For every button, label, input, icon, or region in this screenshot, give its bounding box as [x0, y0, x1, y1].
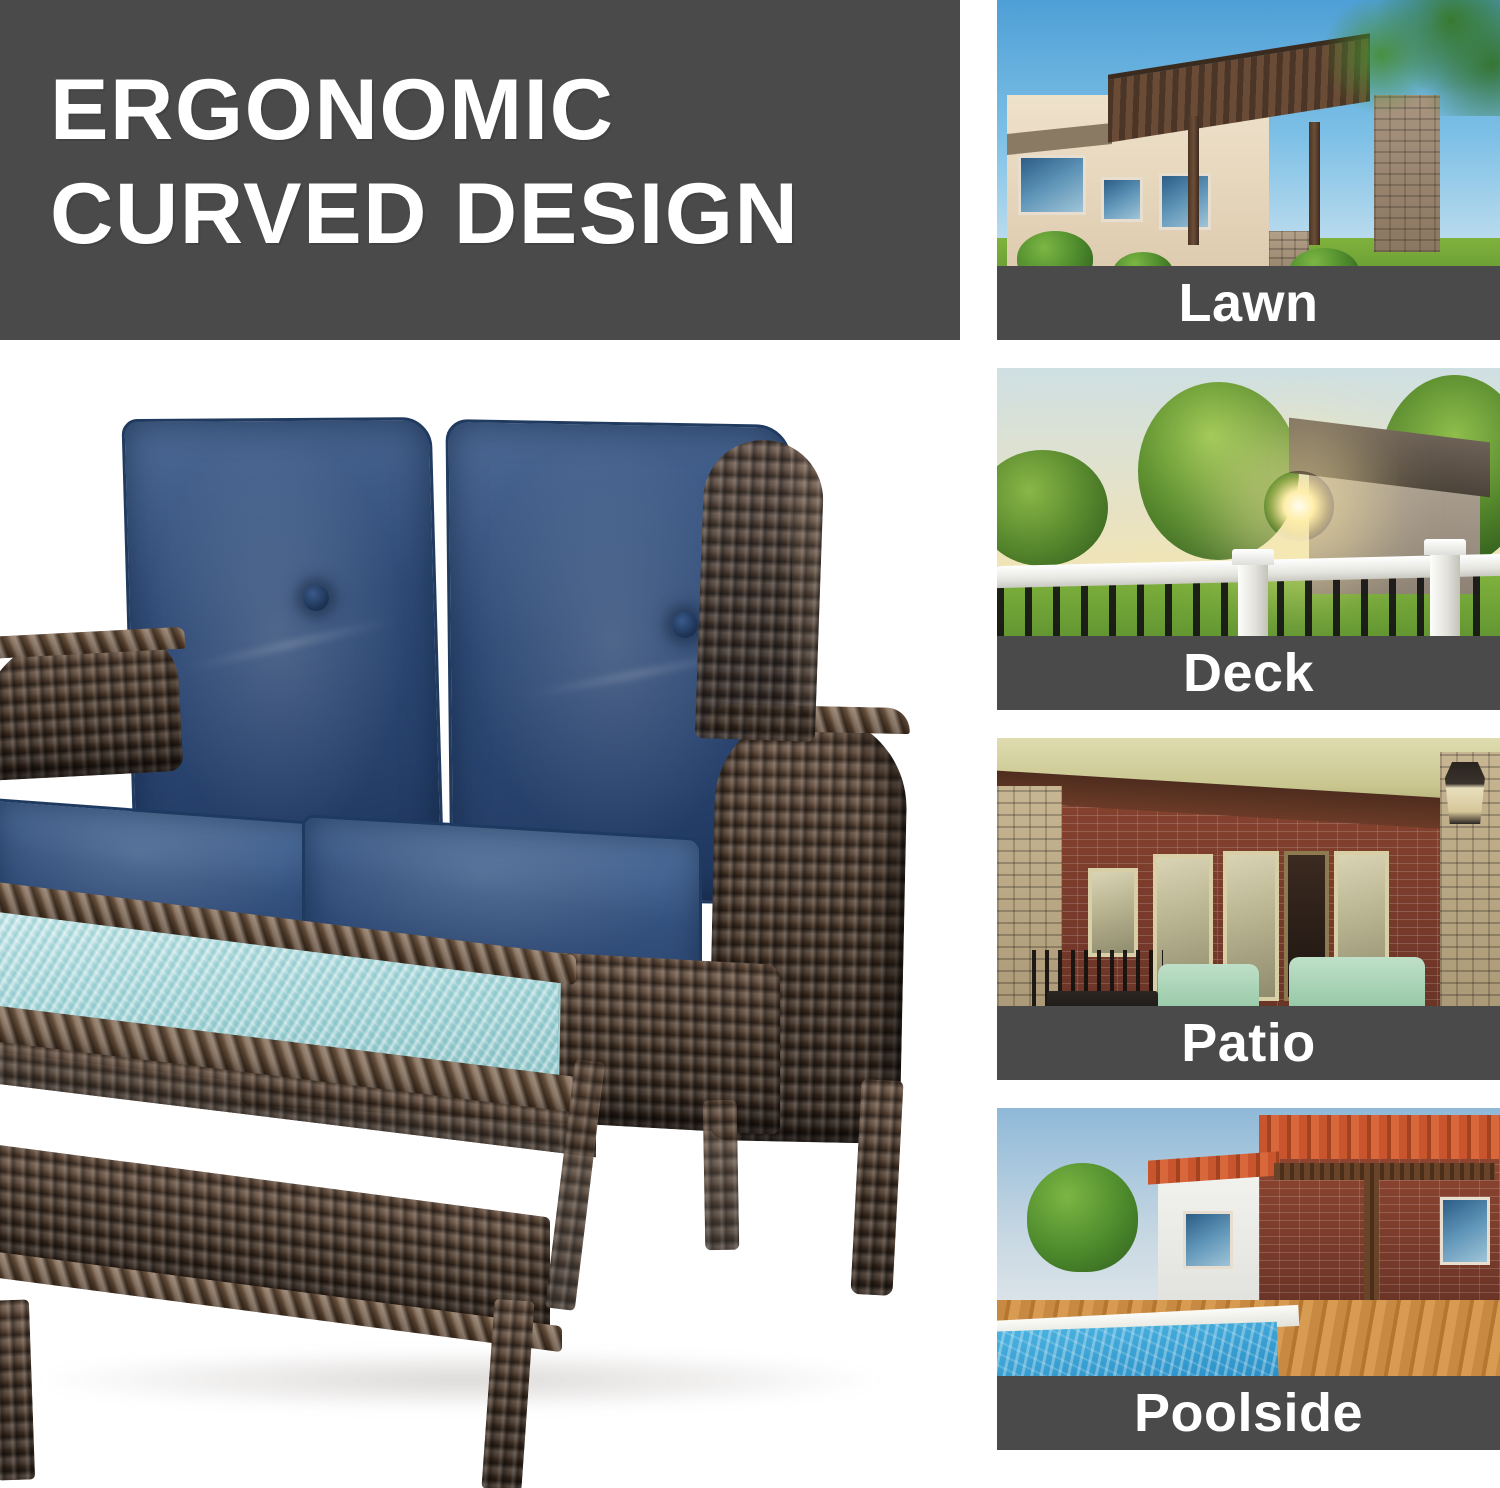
house-window-right: [1440, 1197, 1490, 1265]
scene-card-deck[interactable]: Deck: [997, 368, 1500, 710]
scene-card-patio[interactable]: Patio: [997, 738, 1500, 1080]
loveseat-leg-rear-right: [703, 1100, 740, 1251]
house-door-glass: [1159, 173, 1211, 230]
deck-rail-post-cap-center: [1232, 549, 1274, 565]
tuft-button-left: [303, 585, 329, 611]
wall-lantern-icon: [1445, 762, 1485, 824]
scene-card-lawn[interactable]: Lawn: [997, 0, 1500, 340]
patio-window-left: [1088, 868, 1138, 957]
scene-label-deck: Deck: [997, 636, 1500, 710]
headline-line-2: CURVED DESIGN: [50, 162, 978, 266]
scene-label-poolside: Poolside: [997, 1376, 1500, 1450]
scene-label-text: Lawn: [1178, 276, 1318, 330]
scene-label-patio: Patio: [997, 1006, 1500, 1080]
ground-shadow: [40, 1350, 880, 1410]
outbuilding-window: [1183, 1211, 1233, 1269]
tree-center: [1138, 382, 1299, 560]
deck-rail-post-cap-right: [1424, 539, 1466, 555]
headline-line-1: ERGONOMIC: [50, 58, 978, 162]
tree-canopy-overhang: [1289, 0, 1500, 116]
house-window-small: [1101, 177, 1143, 223]
terracotta-roof: [1259, 1115, 1500, 1159]
headline-banner: ERGONOMIC CURVED DESIGN: [0, 0, 960, 340]
scene-label-lawn: Lawn: [997, 266, 1500, 340]
porch-beams: [1274, 1163, 1495, 1180]
house-roof: [1007, 123, 1112, 155]
sun-flare: [1264, 471, 1334, 541]
product-photo: [0, 340, 960, 1488]
scene-label-text: Patio: [1181, 1016, 1316, 1070]
scene-label-text: Poolside: [1134, 1386, 1363, 1440]
loveseat-back-frame: [695, 438, 825, 742]
stone-chimney: [1374, 95, 1439, 251]
house-window-large: [1018, 155, 1086, 215]
left-column: ERGONOMIC CURVED DESIGN: [0, 0, 960, 1488]
scene-card-poolside[interactable]: Poolside: [997, 1108, 1500, 1450]
pergola-post-right: [1309, 122, 1320, 244]
tuft-button-right: [672, 612, 698, 638]
scene-gallery: Lawn Deck: [997, 0, 1500, 1488]
product-infographic: ERGONOMIC CURVED DESIGN: [0, 0, 1500, 1488]
pool-tree: [1027, 1163, 1138, 1272]
coffee-table-leg-left: [0, 1299, 35, 1480]
pergola-post-left: [1188, 116, 1199, 245]
scene-label-text: Deck: [1183, 646, 1314, 700]
